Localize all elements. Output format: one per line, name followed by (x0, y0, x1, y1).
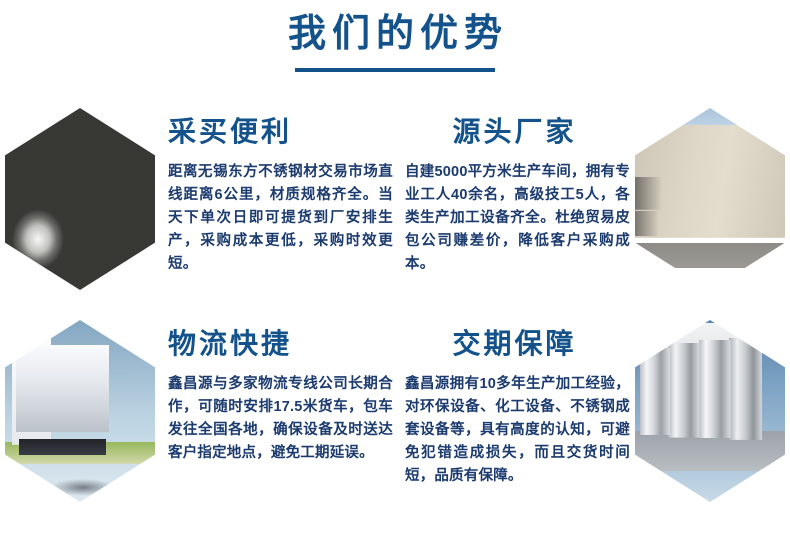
feature-body: 鑫昌源拥有10多年生产加工经验，对环保设备、化工设备、不锈钢成套设备等，具有高度… (405, 373, 630, 488)
hexagon-image-frame (5, 320, 155, 502)
feature-card-procurement: 采买便利 距离无锡东方不锈钢材交易市场直线距离6公里，材质规格齐全。当天下单次日… (0, 96, 395, 318)
feature-body: 鑫昌源与多家物流专线公司长期合作，可随时安排17.5米货车，包车发往全国各地，确… (168, 373, 393, 465)
hexagon-image-frame (635, 108, 785, 290)
hexagon-image-frame (5, 108, 155, 290)
title-underline-rule (295, 68, 495, 72)
hexagon-image-frame (635, 320, 785, 502)
factory-building-photo (635, 108, 785, 290)
page-title: 我们的优势 (0, 12, 790, 57)
feature-card-delivery-guarantee: 交期保障 鑫昌源拥有10多年生产加工经验，对环保设备、化工设备、不锈钢成套设备等… (395, 310, 790, 532)
feature-text-column: 源头厂家 自建5000平方米生产车间，拥有专业工人40余名，高级技工5人，各类生… (405, 114, 630, 276)
feature-body: 距离无锡东方不锈钢材交易市场直线距离6公里，材质规格齐全。当天下单次日即可提货到… (168, 161, 393, 276)
stainless-tanks-photo (635, 320, 785, 502)
feature-text-column: 物流快捷 鑫昌源与多家物流专线公司长期合作，可随时安排17.5米货车，包车发往全… (168, 326, 393, 465)
delivery-truck-photo (5, 320, 155, 502)
feature-body: 自建5000平方米生产车间，拥有专业工人40余名，高级技工5人，各类生产加工设备… (405, 161, 630, 276)
feature-title: 物流快捷 (168, 326, 393, 361)
feature-title: 交期保障 (405, 326, 630, 361)
feature-title: 采买便利 (168, 114, 393, 149)
feature-text-column: 交期保障 鑫昌源拥有10多年生产加工经验，对环保设备、化工设备、不锈钢成套设备等… (405, 326, 630, 488)
advantages-page: 我们的优势 采买便利 距离无锡东方不锈钢材交易市场直线距离6公里，材质规格齐全。… (0, 0, 790, 548)
page-header: 我们的优势 (0, 12, 790, 72)
feature-card-logistics: 物流快捷 鑫昌源与多家物流专线公司长期合作，可随时安排17.5米货车，包车发往全… (0, 310, 395, 532)
feature-card-manufacturer: 源头厂家 自建5000平方米生产车间，拥有专业工人40余名，高级技工5人，各类生… (395, 96, 790, 318)
feature-text-column: 采买便利 距离无锡东方不锈钢材交易市场直线距离6公里，材质规格齐全。当天下单次日… (168, 114, 393, 276)
feature-title: 源头厂家 (405, 114, 630, 149)
feature-grid: 采买便利 距离无锡东方不锈钢材交易市场直线距离6公里，材质规格齐全。当天下单次日… (0, 96, 790, 548)
steel-coils-photo (5, 108, 155, 290)
